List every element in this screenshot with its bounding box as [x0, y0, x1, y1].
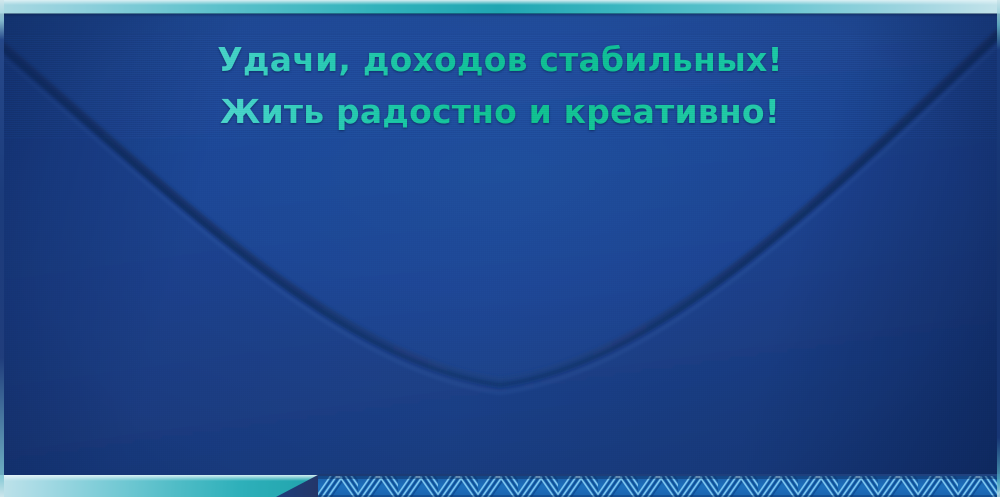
- card-left-edge: [0, 0, 4, 497]
- greeting-line-1: Удачи, доходов стабильных!: [0, 34, 1000, 86]
- bottom-chevron-band: [318, 476, 1000, 497]
- top-band-shadow: [0, 13, 1000, 17]
- greeting-card: Удачи, доходов стабильных! Жить радостно…: [0, 0, 1000, 497]
- greeting-line-2: Жить радостно и креативно!: [0, 86, 1000, 138]
- bottom-band-highlight: [0, 475, 342, 481]
- top-band-highlight: [0, 0, 1000, 5]
- greeting-text-block: Удачи, доходов стабильных! Жить радостно…: [0, 34, 1000, 138]
